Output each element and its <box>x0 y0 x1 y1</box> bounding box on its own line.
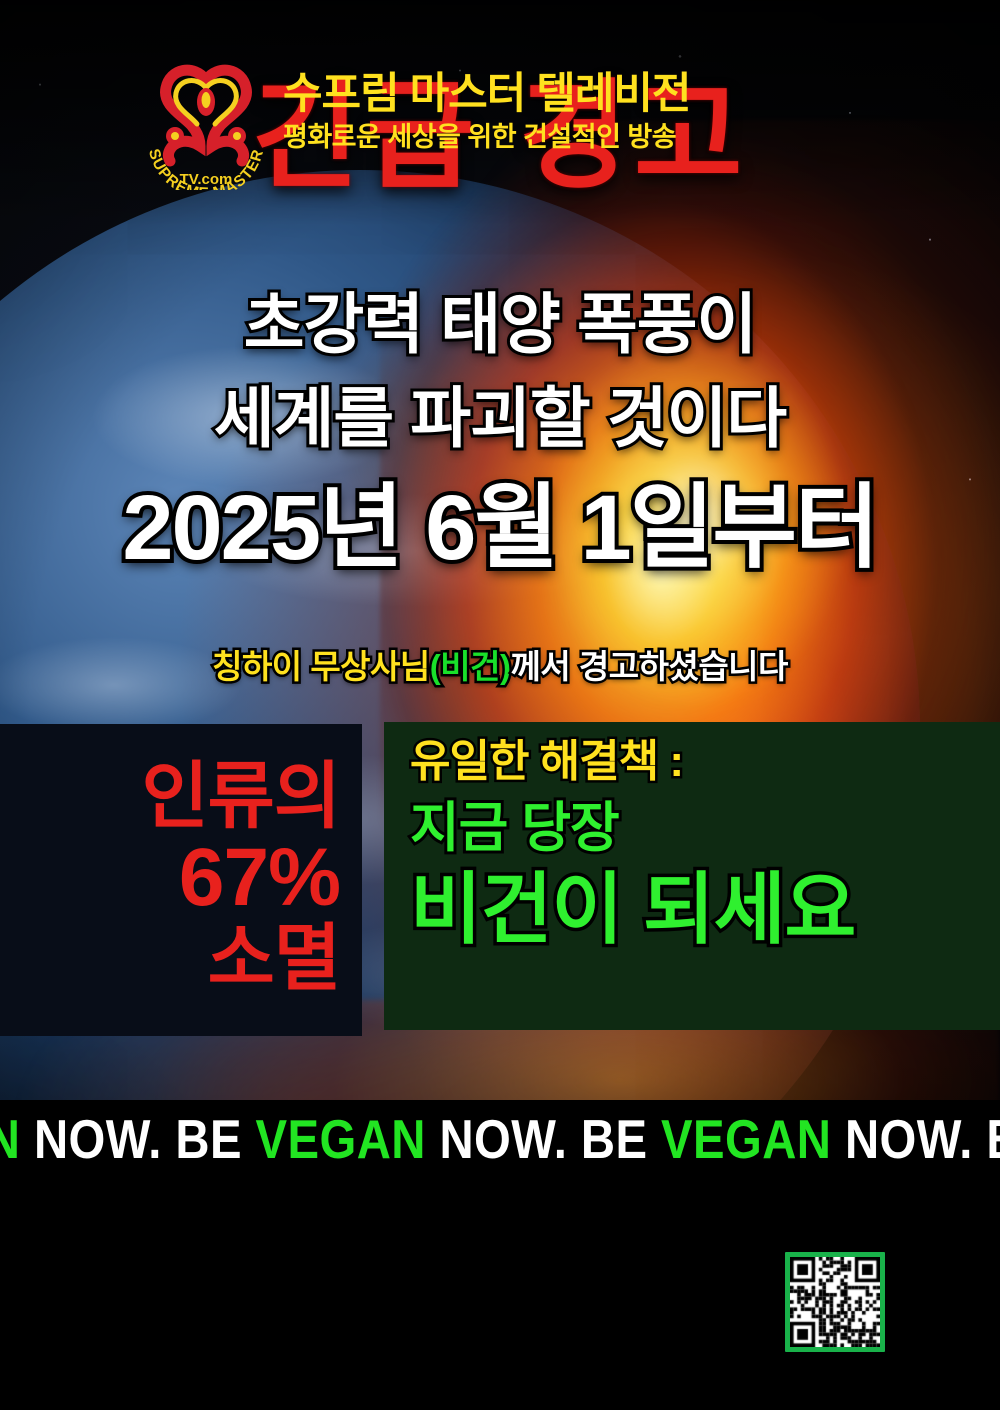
attribution-vegan-tag: (비건) <box>430 648 511 685</box>
statistic-label-extinction: 소멸 <box>208 921 340 997</box>
supreme-master-tv-logo-icon[interactable]: SUPREME MASTER TV.com <box>140 58 272 190</box>
attribution-rest: 께서 경고하셨습니다 <box>510 648 787 685</box>
vegan-ticker-banner: GAN NOW. BE VEGAN NOW. BE VEGAN NOW. BE … <box>0 1100 1000 1178</box>
solution-heading: 유일한 해결책 : <box>410 738 1000 786</box>
solution-line-1: 지금 당장 <box>410 800 1000 857</box>
subheadline-line-2: 세계를 파괴할 것이다 <box>0 382 1000 456</box>
solution-line-2: 비건이 되세요 <box>410 869 1000 951</box>
qr-code[interactable] <box>785 1252 885 1352</box>
brand-block: 수프림 마스터 텔레비전 평화로운 세상을 위한 건설적인 방송 <box>283 72 691 152</box>
attribution-line: 칭하이 무상사님(비건)께서 경고하셨습니다 <box>0 640 1000 688</box>
attribution-author: 칭하이 무상사님 <box>212 648 430 685</box>
statistic-panel: 인류의 67% 소멸 <box>0 724 362 1036</box>
ticker-segment: NOW. BE <box>439 1108 661 1170</box>
poster-root: 긴급 경고 초강력 태양 폭풍이 세계를 파괴할 것이다 2025년 6월 1일… <box>0 0 1000 1410</box>
ticker-segment: NOW. BE <box>34 1108 256 1170</box>
svg-text:TV.com: TV.com <box>180 171 233 188</box>
brand-name: 수프림 마스터 텔레비전 <box>283 72 691 118</box>
poster-content: 긴급 경고 초강력 태양 폭풍이 세계를 파괴할 것이다 2025년 6월 1일… <box>0 0 1000 1410</box>
ticker-segment: NOW. BE <box>845 1108 1000 1170</box>
subheadline-line-1: 초강력 태양 폭풍이 <box>0 288 1000 362</box>
statistic-label-humanity: 인류의 <box>142 759 340 835</box>
ticker-text: GAN NOW. BE VEGAN NOW. BE VEGAN NOW. BE … <box>0 1112 1000 1167</box>
ticker-segment: VEGAN <box>661 1108 845 1170</box>
ticker-segment: VEGAN <box>256 1108 440 1170</box>
brand-tagline: 평화로운 세상을 위한 건설적인 방송 <box>283 123 691 153</box>
statistic-percent-value: 67% <box>179 835 340 920</box>
ticker-segment: GAN <box>0 1108 34 1170</box>
qr-code-image <box>790 1257 880 1347</box>
date-line: 2025년 6월 1일부터 <box>0 482 1000 574</box>
solution-panel: 유일한 해결책 : 지금 당장 비건이 되세요 <box>384 722 1000 1030</box>
